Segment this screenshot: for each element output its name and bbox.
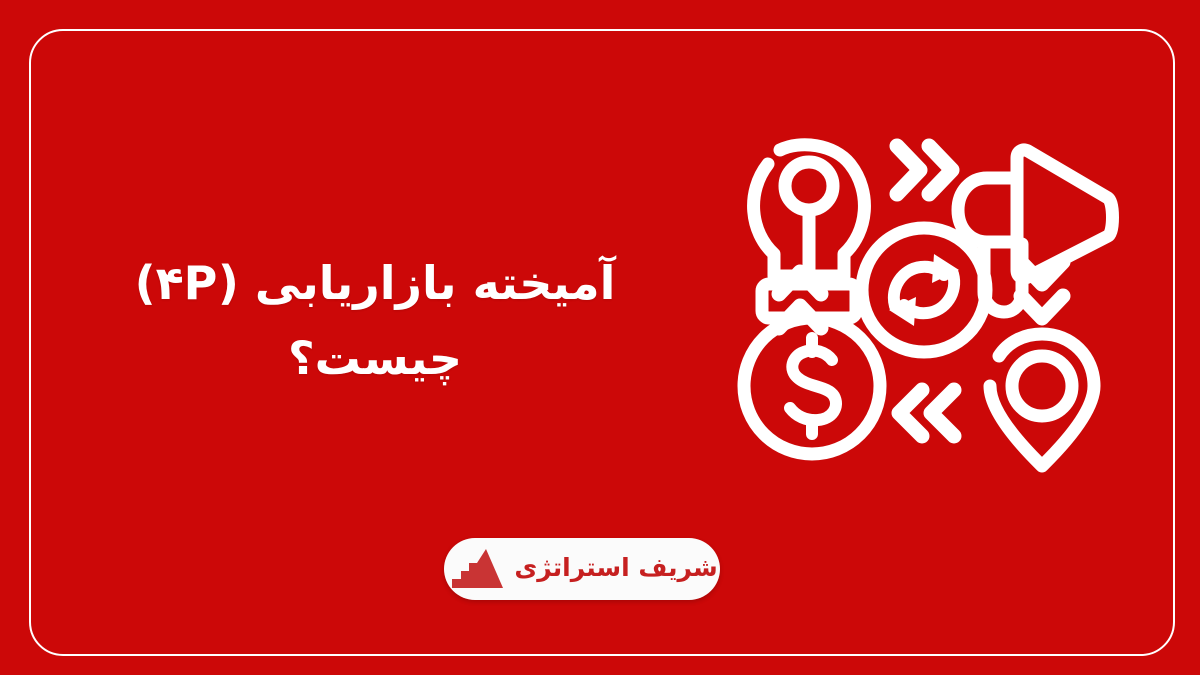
stepped-mountain-logo-icon	[446, 547, 504, 591]
page-title: آمیخته بازاریابی (۴P) چیست؟	[95, 246, 655, 395]
marketing-mix-icon-cluster	[722, 98, 1126, 482]
refresh-cycle-icon	[862, 228, 986, 352]
dollar-coin-icon	[744, 318, 880, 454]
chevron-right-double-icon	[897, 146, 952, 194]
brand-name-label: شریف استراتژی	[514, 555, 717, 583]
location-pin-icon	[990, 334, 1094, 466]
headline-line-2: چیست؟	[95, 321, 655, 396]
banner-stage: آمیخته بازاریابی (۴P) چیست؟	[0, 0, 1200, 675]
headline-line-1: آمیخته بازاریابی (۴P)	[135, 256, 616, 310]
chevron-left-double-icon	[899, 390, 954, 436]
brand-logo-button[interactable]: شریف استراتژی	[444, 538, 720, 600]
